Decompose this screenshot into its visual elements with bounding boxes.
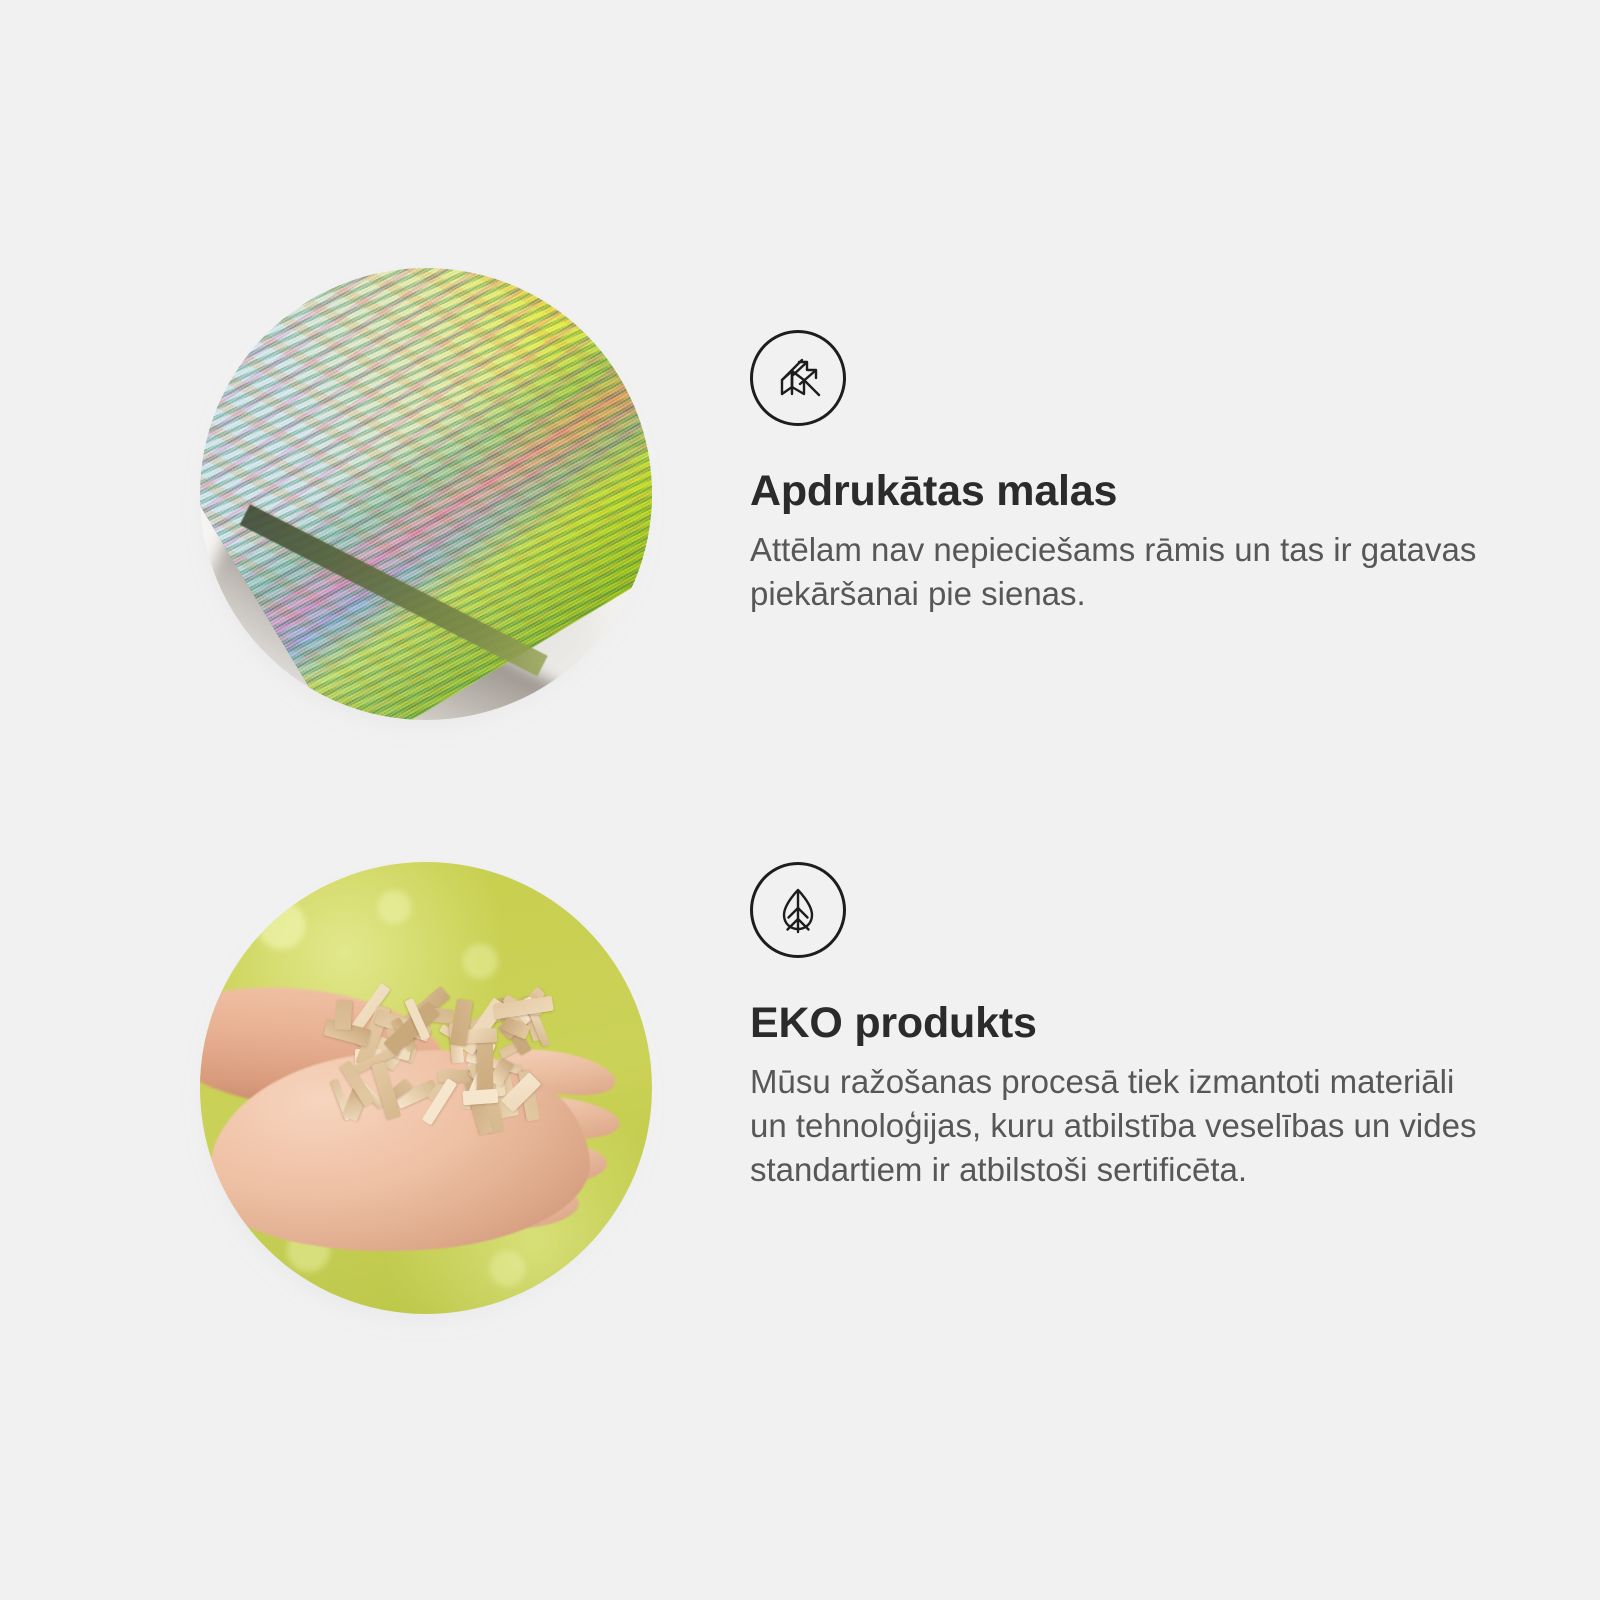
wood-chip-pile: [318, 998, 571, 1143]
canvas-wrapped-edges-icon: [750, 330, 846, 426]
leaf-icon: [750, 862, 846, 958]
leaf-glyph: [770, 882, 826, 938]
photo-circle: [200, 268, 652, 720]
photo-circle: [200, 862, 652, 1314]
hands-with-wood-chips-photo: [200, 862, 652, 1314]
feature-title: EKO produkts: [750, 1000, 1510, 1046]
feature-description: Attēlam nav nepieciešams rāmis un tas ir…: [750, 528, 1480, 616]
wood-chip: [335, 1000, 353, 1030]
feature-title: Apdrukātas malas: [750, 468, 1510, 514]
feature-text-block: Apdrukātas malas Attēlam nav nepieciešam…: [750, 330, 1510, 616]
feature-description: Mūsu ražošanas procesā tiek izmantoti ma…: [750, 1060, 1480, 1192]
feature-text-block: EKO produkts Mūsu ražošanas procesā tiek…: [750, 862, 1510, 1192]
canvas-print-corner-photo: [200, 268, 652, 720]
feature-list: Apdrukātas malas Attēlam nav nepieciešam…: [0, 0, 1600, 1600]
canvas-wrapped-edges-glyph: [770, 350, 826, 406]
